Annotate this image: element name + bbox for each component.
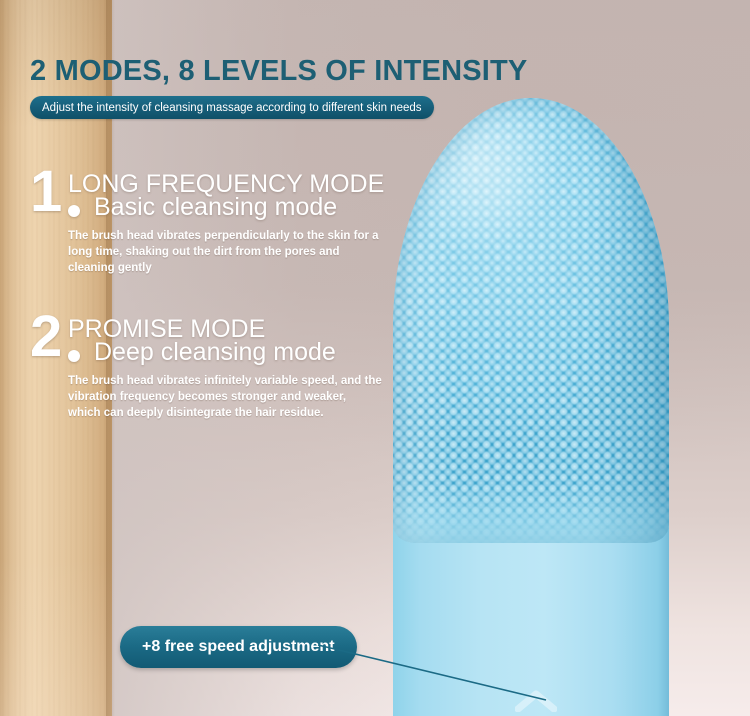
mode-number-1: 1 [30, 166, 62, 218]
subtitle-text: Adjust the intensity of cleansing massag… [42, 102, 422, 114]
mode-description-2-line-1: The brush head vibrates infinitely varia… [68, 373, 386, 389]
mode-description-2-line-3: which can deeply disintegrate the hair r… [68, 405, 386, 421]
subtitle-badge: Adjust the intensity of cleansing massag… [30, 96, 434, 119]
bullet-icon-1 [68, 205, 80, 217]
mode-subheading-1: Basic cleansing mode [94, 193, 337, 222]
brush-head-rim [393, 98, 669, 543]
brush-head [393, 98, 669, 543]
callout-label: +8 free speed adjustment [142, 638, 335, 656]
mode-block-2: 2 PROMISE MODE Deep cleansing mode The b… [30, 311, 390, 436]
mode-subheading-2: Deep cleansing mode [94, 338, 336, 367]
product-feature-graphic: 2 MODES, 8 LEVELS OF INTENSITY Adjust th… [0, 0, 750, 716]
mode-number-2: 2 [30, 311, 62, 363]
mode-description-2: The brush head vibrates infinitely varia… [68, 373, 386, 421]
mode-description-1-line-1: The brush head vibrates perpendicularly … [68, 228, 386, 244]
mode-description-1: The brush head vibrates perpendicularly … [68, 228, 386, 276]
mode-description-1-line-2: long time, shaking out the dirt from the… [68, 244, 386, 260]
mode-description-2-line-2: vibration frequency becomes stronger and… [68, 389, 386, 405]
mode-block-1: 1 LONG FREQUENCY MODE Basic cleansing mo… [30, 166, 390, 291]
product-image [393, 98, 669, 716]
bullet-icon-2 [68, 350, 80, 362]
mode-description-1-line-3: cleaning gently [68, 260, 386, 276]
page-title: 2 MODES, 8 LEVELS OF INTENSITY [30, 55, 527, 88]
callout-leader-line [318, 645, 548, 701]
